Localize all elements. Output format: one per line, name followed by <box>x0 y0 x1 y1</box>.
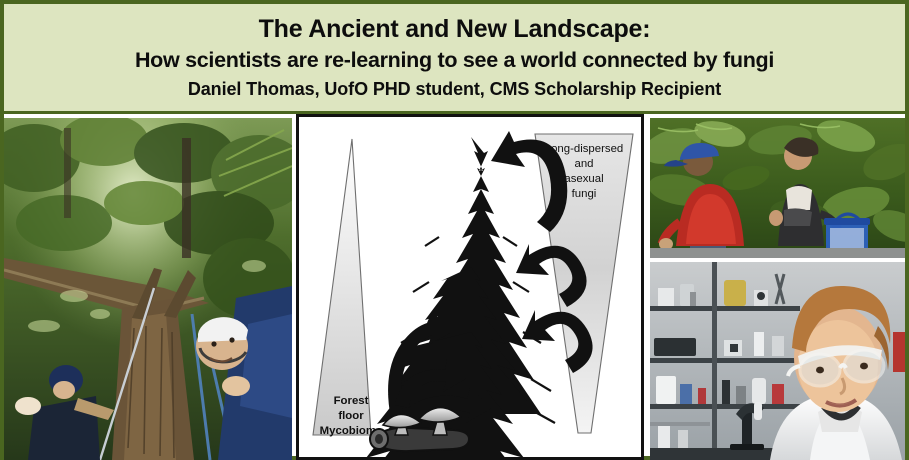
presentation-slide: The Ancient and New Landscape: How scien… <box>0 0 909 460</box>
slide-title-line-1: The Ancient and New Landscape: <box>259 16 651 44</box>
fieldwork-photo-graphic <box>650 118 905 258</box>
laboratory-portrait-photo <box>650 262 905 460</box>
label-forest-floor-0: Forest <box>334 395 369 407</box>
label-long-dispersed-2: asexual <box>564 173 603 185</box>
diagram-graphic: Long-dispersed and asexual fungi Forest … <box>299 117 641 457</box>
lab-photo-graphic <box>650 262 905 460</box>
fieldwork-collection-photo <box>650 118 905 258</box>
slide-title-line-2: How scientists are re-learning to see a … <box>135 48 774 73</box>
forest-canopy-climbing-photo <box>4 118 292 460</box>
forest-photo-graphic <box>4 118 292 460</box>
fungal-dispersal-diagram: Long-dispersed and asexual fungi Forest … <box>296 114 644 460</box>
slide-presenter-line: Daniel Thomas, UofO PHD student, CMS Sch… <box>188 79 721 100</box>
slide-body: Long-dispersed and asexual fungi Forest … <box>4 114 905 460</box>
label-long-dispersed-1: and <box>574 158 593 170</box>
slide-header-banner: The Ancient and New Landscape: How scien… <box>4 4 905 114</box>
label-long-dispersed-3: fungi <box>572 188 597 200</box>
label-forest-floor-1: floor <box>338 410 364 422</box>
